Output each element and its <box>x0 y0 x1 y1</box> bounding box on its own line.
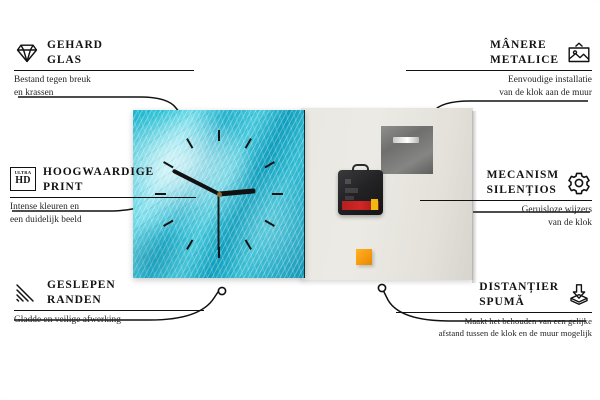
feature-sub-line2: van de klok aan de muur <box>406 87 592 100</box>
feature-title-line1: GESLEPEN <box>47 278 116 293</box>
feature-gehard-glas: GEHARD GLAS Bestand tegen breuk en krass… <box>14 38 194 100</box>
feature-sub-line2: van de klok <box>420 217 592 230</box>
feature-rule <box>406 70 592 71</box>
feature-sub-line1: Intense kleuren en <box>10 201 196 214</box>
hd-label: HD <box>15 176 30 186</box>
feature-manere-metalice: MÂNERE METALICE Eenvoudige installatie v… <box>406 38 592 100</box>
download-pad-icon <box>566 282 592 308</box>
feature-title-line1: MECANISM <box>487 168 559 183</box>
hour-tick <box>218 130 220 194</box>
feature-sub-line1: Eenvoudige installatie <box>406 74 592 87</box>
movement-detail <box>345 177 376 201</box>
hands-pin <box>217 192 222 197</box>
movement-hook <box>352 164 369 172</box>
metal-hanger-plate <box>381 126 433 174</box>
quartz-movement <box>338 170 383 215</box>
feature-sub-line2: een duidelijk beeld <box>10 214 196 227</box>
feature-sub-line1: Geruisloze wijzers <box>420 204 592 217</box>
feature-sub-line1: Gladde en veilige afwerking <box>14 314 204 327</box>
feature-title-line2: PRINT <box>43 180 154 195</box>
bevel-lines-icon <box>14 280 40 306</box>
feature-mecanism-silentios: MECANISM SILENȚIOS Geruisloze wijzers va… <box>420 168 592 230</box>
infographic-canvas: GEHARD GLAS Bestand tegen breuk en krass… <box>0 0 600 400</box>
feature-title-line2: RANDEN <box>47 293 116 308</box>
marker-distantier <box>378 284 385 291</box>
feature-rule <box>396 312 592 313</box>
feature-title-line1: HOOGWAARDIGE <box>43 165 154 180</box>
foam-spacer <box>356 249 372 265</box>
feature-title-line2: GLAS <box>47 53 103 68</box>
feature-geslepen-randen: GESLEPEN RANDEN Gladde en veilige afwerk… <box>14 278 204 327</box>
ultra-hd-icon: ultra HD <box>10 167 36 193</box>
feature-sub-line1: Bestand tegen breuk <box>14 74 194 87</box>
feature-sub-line1: Maakt het behouden van een gelijke <box>396 316 592 328</box>
feature-sub-line2: afstand tussen de klok en de muur mogeli… <box>396 328 592 340</box>
feature-title-line2: METALICE <box>490 53 559 68</box>
glass-edge <box>304 110 305 278</box>
feature-sub-line2: en krassen <box>14 87 194 100</box>
diamond-icon <box>14 40 40 66</box>
picture-frame-icon <box>566 40 592 66</box>
feature-title-line1: MÂNERE <box>490 38 559 53</box>
feature-title-line1: GEHARD <box>47 38 103 53</box>
marker-randen <box>218 287 225 294</box>
feature-rule <box>14 70 194 71</box>
feature-title-line1: DISTANȚIER <box>479 280 559 295</box>
feature-rule <box>420 200 592 201</box>
feature-rule <box>14 310 204 311</box>
feature-rule <box>10 197 196 198</box>
movement-label <box>342 201 379 210</box>
feature-title-line2: SILENȚIOS <box>487 183 559 198</box>
feature-distantier-spuma: DISTANȚIER SPUMĂ Maakt het behouden van … <box>396 280 592 340</box>
hanger-slot <box>393 137 419 143</box>
feature-hoogwaardige-print: ultra HD HOOGWAARDIGE PRINT Intense kleu… <box>10 165 196 227</box>
feature-title-line2: SPUMĂ <box>479 295 559 310</box>
gear-icon <box>566 170 592 196</box>
